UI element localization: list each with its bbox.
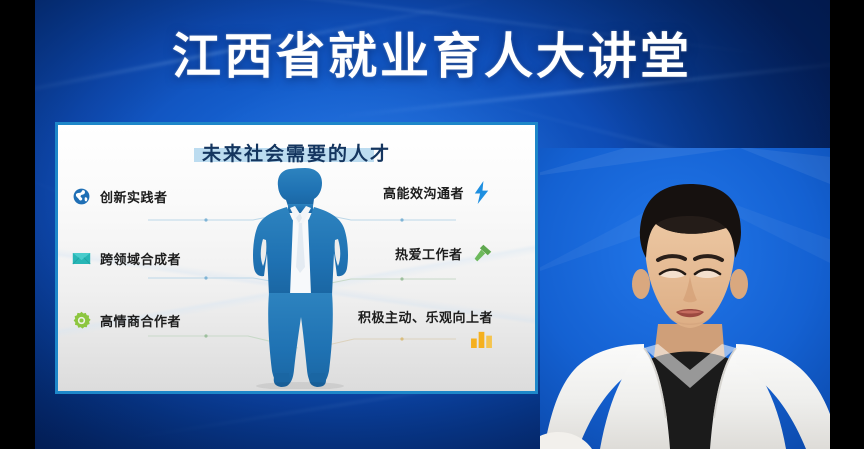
page-title: 江西省就业育人大讲堂 [0,30,864,85]
lightning-bolt-icon [473,181,490,204]
list-item[interactable]: 积极主动、乐观向上者 [358,307,493,348]
slide-title-wrap: 未来社会需要的人才 [58,139,535,166]
slide-title: 未来社会需要的人才 [200,139,393,166]
list-item-label: 创新实践者 [100,187,168,206]
businessman-silhouette-icon [243,167,358,389]
list-item[interactable]: 高能效沟通者 [383,181,490,204]
list-item[interactable]: 创新实践者 [72,187,168,206]
livestream-stage: 江西省就业育人大讲堂 未来社会需要的人才 [0,0,864,449]
list-item[interactable]: 跨领域合成者 [72,249,181,268]
bar-chart-icon [470,329,493,348]
list-item[interactable]: 热爱工作者 [395,243,493,264]
envelope-icon [72,249,91,268]
list-item[interactable]: 高情商合作者 [72,311,181,330]
list-item-label: 积极主动、乐观向上者 [358,307,493,326]
hammer-icon [472,243,493,264]
presenter-video [540,148,840,449]
globe-icon [72,187,91,206]
list-item-label: 热爱工作者 [395,244,463,263]
slide-panel: 未来社会需要的人才 [55,122,538,394]
letterbox-bar-left [0,0,35,449]
list-item-label: 高能效沟通者 [383,183,464,202]
list-item-label: 跨领域合成者 [100,249,181,268]
presenter-figure [540,148,840,449]
letterbox-bar-right [830,0,864,449]
gear-icon [72,311,91,330]
list-item-label: 高情商合作者 [100,311,181,330]
